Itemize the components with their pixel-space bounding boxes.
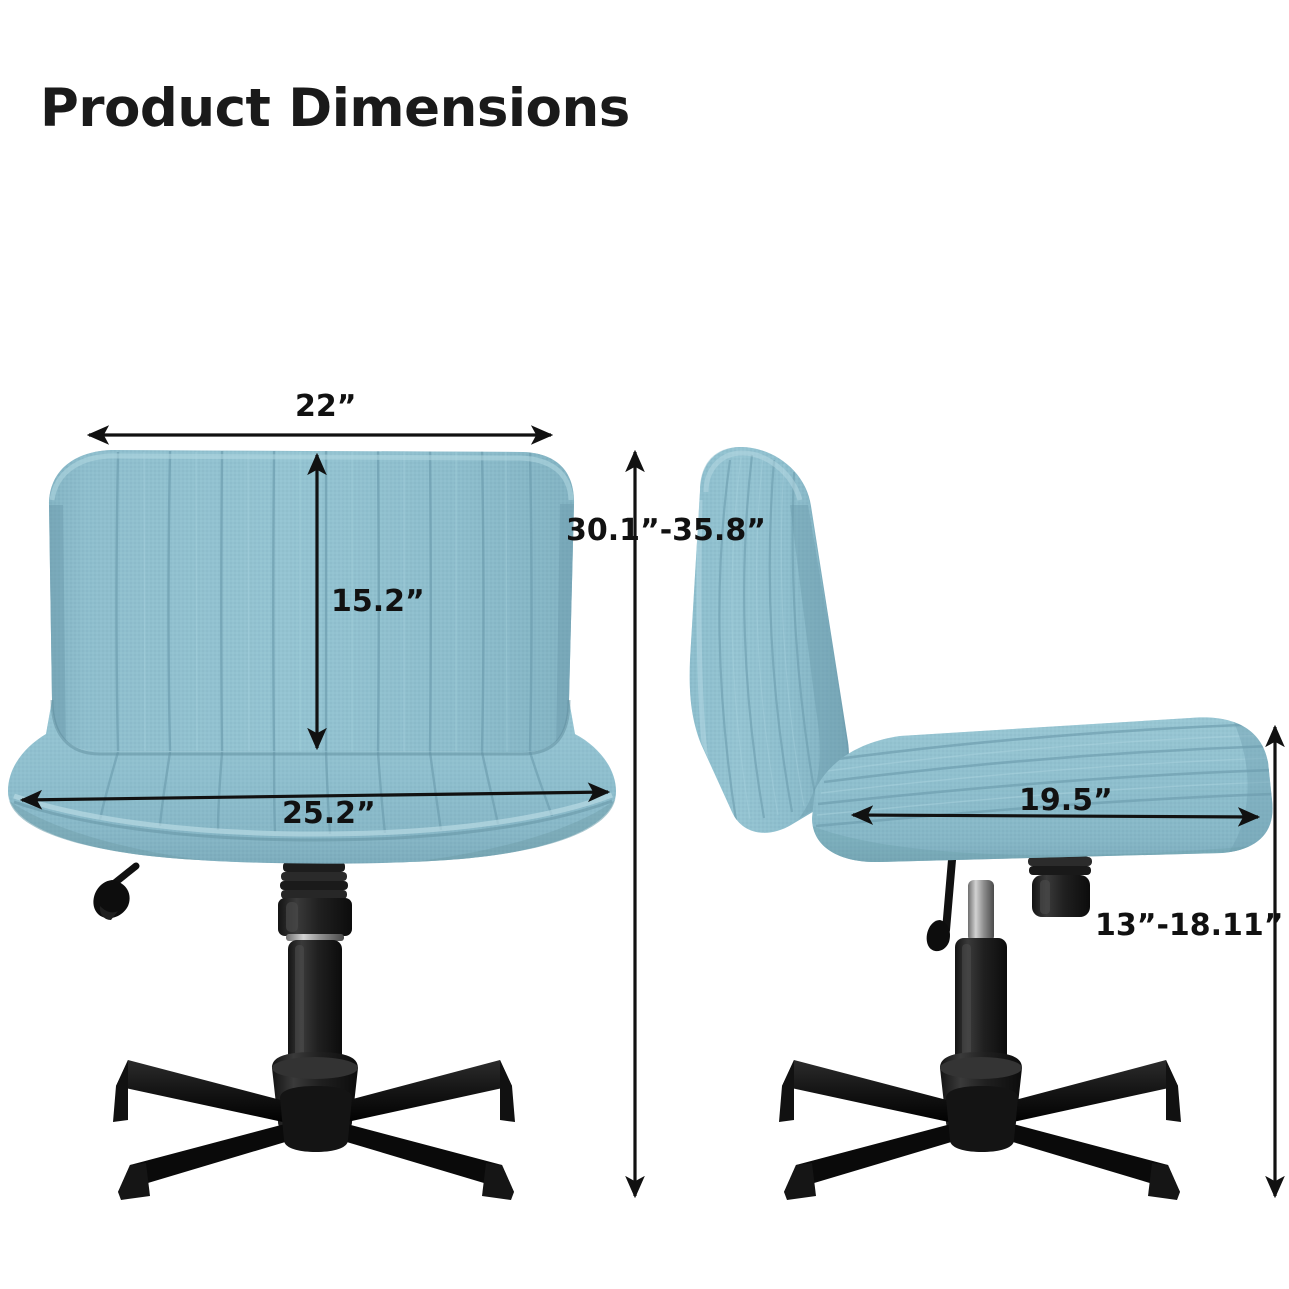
product-dimensions-diagram: Product Dimensions xyxy=(0,0,1289,1289)
overall-width-label: 22” xyxy=(295,389,356,424)
seat-depth-label: 19.5” xyxy=(1019,783,1113,818)
overall-height-label: 30.1”-35.8” xyxy=(566,513,766,548)
backrest-height-label: 15.2” xyxy=(331,584,425,619)
seat-height-label: 13”-18.11” xyxy=(1095,908,1284,943)
seat-width-label: 25.2” xyxy=(282,796,376,831)
dimension-annotations xyxy=(0,0,1289,1289)
